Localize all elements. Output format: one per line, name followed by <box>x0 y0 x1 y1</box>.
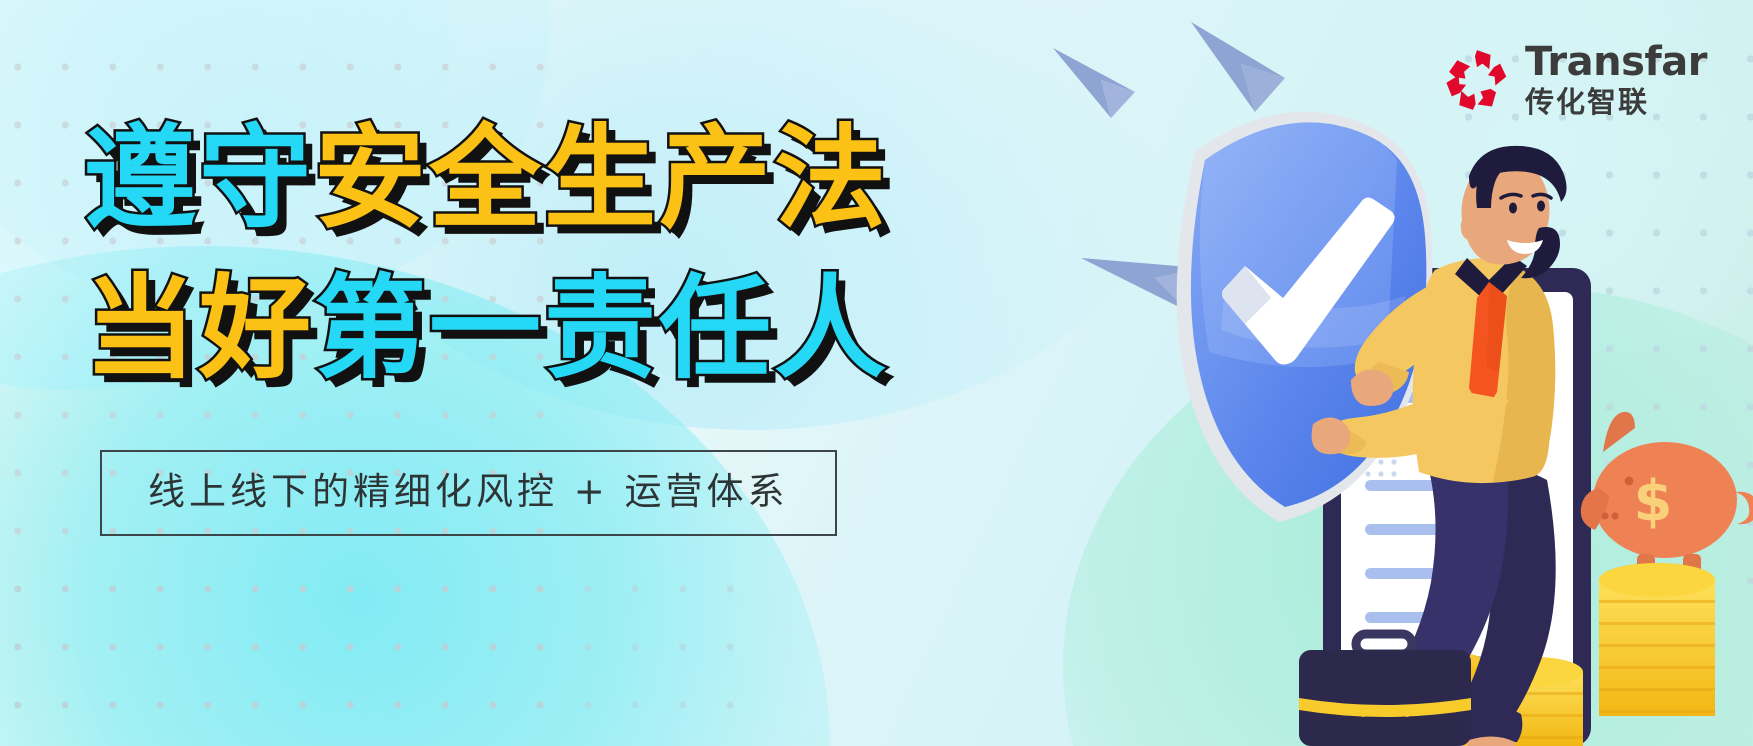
headline: 遵守安全生产法 当好第一责任人 <box>84 104 889 404</box>
headline-char: 生 <box>544 104 659 254</box>
brand-logo-text: Transfar 传化智联 <box>1525 42 1707 117</box>
headline-char: 第 <box>314 254 429 404</box>
piggy-bank-icon: $ <box>1581 412 1753 576</box>
headline-char: 责 <box>544 254 659 404</box>
headline-char: 遵 <box>84 104 199 254</box>
dot-grid-bottom-left <box>0 560 754 746</box>
brand-logo: Transfar 传化智联 <box>1443 42 1707 117</box>
headline-char: 任 <box>659 254 774 404</box>
headline-char: 守 <box>199 104 314 254</box>
subtitle-box: 线上线下的精细化风控 + 运营体系 <box>100 450 837 536</box>
transfar-pinwheel-icon <box>1443 46 1511 114</box>
headline-char: 当 <box>84 254 199 404</box>
briefcase-icon <box>1299 634 1471 746</box>
svg-text:$: $ <box>1634 469 1673 534</box>
headline-line-1: 遵守安全生产法 <box>84 104 889 254</box>
headline-char: 安 <box>314 104 429 254</box>
headline-char: 法 <box>774 104 889 254</box>
headline-char: 全 <box>429 104 544 254</box>
safety-production-banner: $ <box>0 0 1753 746</box>
headline-char: 好 <box>199 254 314 404</box>
headline-line-2: 当好第一责任人 <box>84 254 889 404</box>
headline-char: 人 <box>774 254 889 404</box>
brand-name-cn: 传化智联 <box>1525 88 1707 117</box>
headline-char: 一 <box>429 254 544 404</box>
subtitle-text: 线上线下的精细化风控 + 运营体系 <box>148 470 789 514</box>
headline-char: 产 <box>659 104 774 254</box>
brand-name-en: Transfar <box>1525 42 1707 82</box>
